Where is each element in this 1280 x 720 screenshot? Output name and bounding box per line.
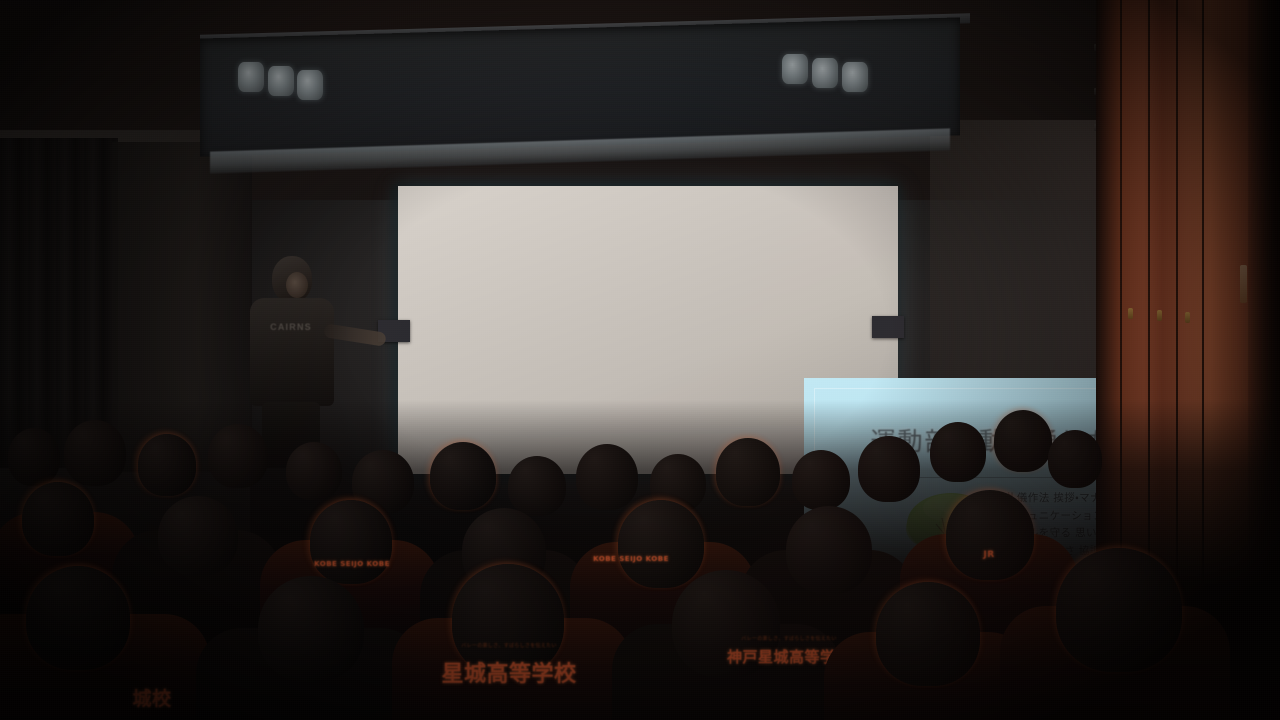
audience-head (208, 424, 268, 488)
presenter-face (286, 272, 308, 298)
audience-shirt-print: KOBE SEIJO KOBE (556, 555, 706, 563)
audience-head (946, 490, 1034, 580)
ceiling-spotlight-icon (812, 58, 838, 88)
ceiling-spotlight-icon (238, 62, 264, 92)
audience-head (508, 456, 566, 516)
audience-shirt-print: KOBE SEIJO KOBE (282, 560, 422, 568)
audience-head (930, 422, 986, 482)
ceiling-spotlight-icon (842, 62, 868, 92)
partition-lock-icon[interactable] (1240, 265, 1247, 303)
audience-head (716, 438, 780, 506)
partition-handle-icon[interactable] (1128, 308, 1133, 319)
audience-head (792, 450, 850, 510)
audience-head (1048, 430, 1102, 488)
audience-head (22, 482, 94, 556)
audience-head (8, 428, 60, 486)
audience-head (576, 444, 638, 510)
audience-shirt-print: 城校 (102, 684, 202, 711)
screen-bracket-right (872, 316, 904, 338)
audience-head (786, 506, 872, 594)
audience-shirt-print: 星城高等学校 (406, 656, 612, 688)
audience-head (876, 582, 980, 686)
audience-head (310, 500, 392, 584)
partition-handle-icon[interactable] (1185, 312, 1190, 323)
audience-head (286, 442, 342, 500)
presenter-torso (250, 298, 334, 406)
audience-head (258, 576, 364, 682)
ceiling-spotlight-icon (268, 66, 294, 96)
audience-head (138, 434, 196, 496)
audience-head (26, 566, 130, 670)
presenter-shirt-print: CAIRNS (258, 322, 324, 332)
ceiling-spotlight-icon (297, 70, 323, 100)
partition-handle-icon[interactable] (1157, 310, 1162, 321)
audience-area: KOBE SEIJO KOBE KOBE SEIJO KOBE JR 城校 バレ… (0, 400, 1280, 720)
photo-canvas: 運動部活動を通した人間形成 (0, 0, 1280, 720)
ceiling-spotlight-icon (782, 54, 808, 84)
audience-shirt-subtext: バレーの楽しさ、すばらしさを伝えたい (404, 642, 614, 649)
audience-head (994, 410, 1052, 472)
audience-head (64, 420, 126, 486)
audience-head (858, 436, 920, 502)
audience-shirt-print: JR (934, 550, 1044, 560)
audience-head (430, 442, 496, 510)
audience-head (1056, 548, 1182, 672)
audience-head (618, 500, 704, 588)
audience-head (158, 496, 238, 576)
